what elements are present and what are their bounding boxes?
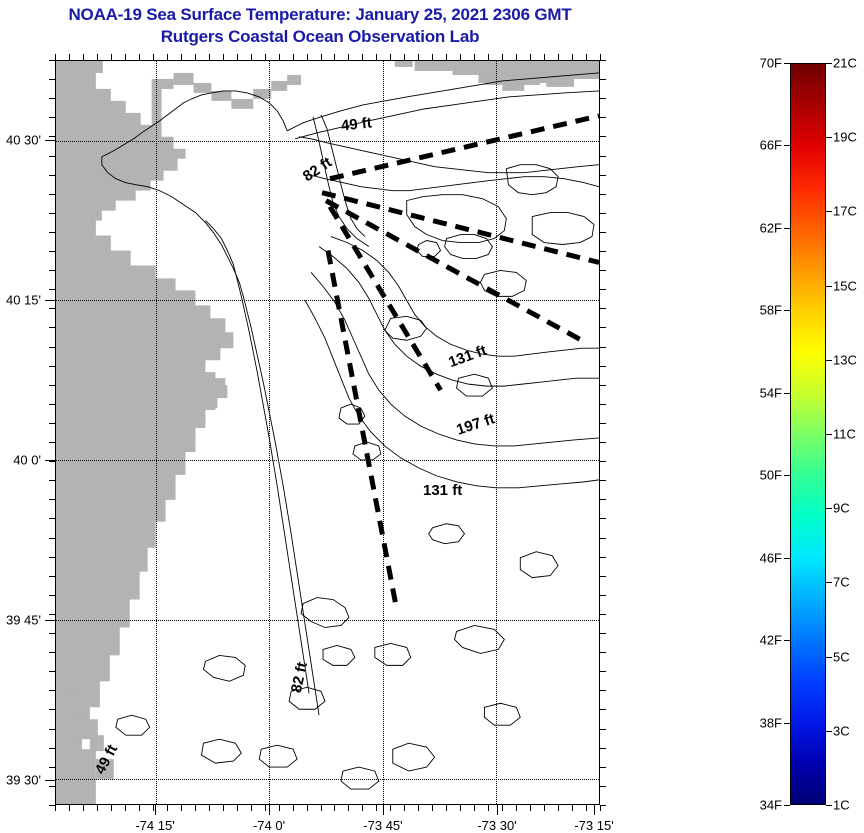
colorbar-tick-fahrenheit — [784, 310, 790, 311]
x-axis-tick-minor — [139, 54, 140, 60]
y-axis-tick-minor — [49, 690, 55, 691]
x-axis-tick-minor — [111, 54, 112, 60]
y-axis-tick-minor — [600, 786, 606, 787]
y-axis-tick-minor — [49, 805, 55, 806]
y-axis-tick-minor — [600, 614, 606, 615]
y-axis-tick-minor — [49, 442, 55, 443]
colorbar-label-celsius: 3C — [833, 723, 850, 738]
y-axis-label: 40 30' — [0, 133, 41, 148]
colorbar-tick-celsius — [826, 657, 832, 658]
colorbar-label-fahrenheit: 58F — [744, 303, 782, 318]
x-axis-tick-minor — [55, 54, 56, 60]
x-axis-label: -74 15' — [135, 818, 174, 833]
x-axis-tick-minor — [516, 805, 517, 811]
x-axis-tick-minor — [348, 54, 349, 60]
x-axis-tick-minor — [446, 54, 447, 60]
x-axis-tick-minor — [293, 54, 294, 60]
x-axis-label: -74 0' — [253, 818, 285, 833]
y-axis-tick-minor — [49, 633, 55, 634]
x-axis-tick-major — [594, 805, 595, 815]
y-axis-tick-minor — [49, 671, 55, 672]
y-axis-tick-minor — [600, 423, 606, 424]
colorbar-label-celsius: 21C — [833, 56, 857, 71]
colorbar-tick-celsius — [826, 508, 832, 509]
colorbar-label-celsius: 5C — [833, 649, 850, 664]
y-axis-tick-minor — [600, 671, 606, 672]
x-axis-tick-minor — [209, 805, 210, 811]
x-axis-tick-minor — [69, 805, 70, 811]
x-axis-tick-minor — [265, 54, 266, 60]
x-axis-tick-minor — [460, 805, 461, 811]
y-axis-tick-minor — [49, 194, 55, 195]
colorbar-tick-fahrenheit — [784, 63, 790, 64]
x-axis-tick-minor — [321, 54, 322, 60]
colorbar-tick-fahrenheit — [784, 640, 790, 641]
transect-line — [328, 250, 397, 609]
colorbar-label-celsius: 15C — [833, 278, 857, 293]
x-axis-tick-minor — [97, 54, 98, 60]
y-axis-tick-minor — [600, 595, 606, 596]
colorbar-label-celsius: 17C — [833, 204, 857, 219]
y-axis-tick-minor — [49, 60, 55, 61]
y-axis-tick-minor — [600, 518, 606, 519]
y-axis-tick-minor — [49, 709, 55, 710]
x-axis-tick-minor — [376, 805, 377, 811]
y-axis-tick-minor — [49, 175, 55, 176]
colorbar-label-fahrenheit: 34F — [744, 798, 782, 813]
colorbar-label-fahrenheit: 42F — [744, 633, 782, 648]
y-axis-tick-minor — [600, 136, 606, 137]
x-axis-tick-minor — [167, 805, 168, 811]
y-axis-tick-minor — [600, 442, 606, 443]
x-axis-tick-minor — [279, 54, 280, 60]
y-axis-tick-minor — [600, 251, 606, 252]
title-line-2: Rutgers Coastal Ocean Observation Lab — [0, 26, 640, 48]
y-axis-tick-minor — [49, 518, 55, 519]
y-axis-tick-minor — [600, 79, 606, 80]
x-axis-tick-minor — [418, 805, 419, 811]
x-axis-tick-minor — [293, 805, 294, 811]
x-axis-tick-minor — [251, 54, 252, 60]
title-line-1: NOAA-19 Sea Surface Temperature: January… — [0, 4, 640, 26]
colorbar[interactable] — [790, 63, 826, 805]
y-axis-tick-minor — [49, 767, 55, 768]
y-axis-tick-minor — [49, 557, 55, 558]
x-axis-tick-major — [383, 805, 384, 815]
sst-map-plot[interactable]: 49 ft 82 ft 131 ft 197 ft 131 ft 82 ft 4… — [55, 60, 600, 805]
x-axis-tick-minor — [530, 805, 531, 811]
y-axis-tick-minor — [600, 480, 606, 481]
y-axis-label: 39 30' — [0, 772, 41, 787]
y-axis-tick-minor — [49, 538, 55, 539]
x-axis-tick-minor — [139, 805, 140, 811]
x-axis-tick-minor — [530, 54, 531, 60]
y-axis-tick-minor — [600, 729, 606, 730]
y-axis-tick-minor — [600, 366, 606, 367]
x-axis-label: -73 15' — [574, 818, 613, 833]
colorbar-label-celsius: 13C — [833, 352, 857, 367]
y-axis-tick-minor — [49, 79, 55, 80]
x-axis-tick-minor — [195, 54, 196, 60]
x-axis-tick-minor — [544, 54, 545, 60]
y-axis-tick-minor — [49, 136, 55, 137]
x-axis-tick-minor — [69, 54, 70, 60]
y-axis-tick-minor — [49, 385, 55, 386]
y-axis-tick-minor — [600, 117, 606, 118]
x-axis-tick-minor — [488, 54, 489, 60]
x-axis-tick-minor — [237, 54, 238, 60]
x-axis-tick-minor — [334, 54, 335, 60]
y-axis-tick-minor — [49, 499, 55, 500]
colorbar-label-fahrenheit: 50F — [744, 468, 782, 483]
y-axis-tick-minor — [49, 213, 55, 214]
colorbar-tick-fahrenheit — [784, 475, 790, 476]
colorbar-tick-celsius — [826, 434, 832, 435]
transect-line — [322, 193, 599, 263]
y-axis-tick-major — [45, 620, 55, 621]
x-axis-tick-minor — [125, 54, 126, 60]
colorbar-tick-fahrenheit — [784, 723, 790, 724]
y-axis-tick-minor — [600, 98, 606, 99]
y-axis-tick-minor — [600, 347, 606, 348]
colorbar-label-celsius: 11C — [833, 427, 856, 442]
y-axis-tick-minor — [49, 652, 55, 653]
colorbar-label-celsius: 19C — [833, 130, 857, 145]
y-axis-tick-minor — [600, 805, 606, 806]
colorbar-label-fahrenheit: 66F — [744, 138, 782, 153]
x-axis-tick-minor — [502, 805, 503, 811]
x-axis-tick-major — [269, 805, 270, 815]
x-axis-tick-minor — [55, 805, 56, 811]
x-axis-tick-major — [155, 805, 156, 815]
colorbar-tick-celsius — [826, 731, 832, 732]
x-axis-tick-minor — [279, 805, 280, 811]
colorbar-label-celsius: 1C — [833, 798, 850, 813]
y-axis-tick-minor — [49, 98, 55, 99]
colorbar-tick-celsius — [826, 63, 832, 64]
colorbar-tick-fahrenheit — [784, 805, 790, 806]
y-axis-tick-minor — [600, 557, 606, 558]
x-axis-tick-minor — [97, 805, 98, 811]
y-axis-tick-minor — [600, 404, 606, 405]
x-axis-tick-minor — [544, 805, 545, 811]
x-axis-tick-minor — [307, 54, 308, 60]
y-axis-tick-minor — [600, 633, 606, 634]
x-axis-label: -73 45' — [363, 818, 402, 833]
colorbar-label-fahrenheit: 38F — [744, 715, 782, 730]
x-axis-tick-minor — [265, 805, 266, 811]
x-axis-tick-minor — [195, 805, 196, 811]
y-axis-tick-minor — [49, 289, 55, 290]
y-axis-tick-major — [45, 140, 55, 141]
colorbar-tick-celsius — [826, 211, 832, 212]
y-axis-tick-minor — [600, 461, 606, 462]
map-clip: 49 ft 82 ft 131 ft 197 ft 131 ft 82 ft 4… — [56, 61, 599, 804]
x-axis-tick-minor — [376, 54, 377, 60]
y-axis-tick-minor — [600, 308, 606, 309]
colorbar-label-fahrenheit: 46F — [744, 550, 782, 565]
x-axis-tick-minor — [586, 54, 587, 60]
y-axis-tick-minor — [49, 461, 55, 462]
colorbar-tick-fahrenheit — [784, 558, 790, 559]
y-axis-tick-minor — [49, 327, 55, 328]
x-axis-tick-minor — [223, 805, 224, 811]
colorbar-label-celsius: 9C — [833, 501, 850, 516]
y-axis-tick-minor — [49, 786, 55, 787]
x-axis-tick-minor — [167, 54, 168, 60]
y-axis-tick-minor — [600, 652, 606, 653]
x-axis-tick-minor — [432, 805, 433, 811]
y-axis-tick-minor — [49, 595, 55, 596]
x-axis-tick-minor — [209, 54, 210, 60]
colorbar-tick-celsius — [826, 137, 832, 138]
x-axis-tick-minor — [432, 54, 433, 60]
x-axis-tick-minor — [418, 54, 419, 60]
y-axis-tick-minor — [600, 232, 606, 233]
colorbar-tick-fahrenheit — [784, 145, 790, 146]
y-axis-tick-minor — [600, 194, 606, 195]
y-axis-tick-minor — [49, 117, 55, 118]
y-axis-tick-major — [45, 460, 55, 461]
y-axis-tick-minor — [600, 385, 606, 386]
x-axis-tick-minor — [558, 54, 559, 60]
x-axis-tick-minor — [572, 805, 573, 811]
y-axis-tick-minor — [600, 213, 606, 214]
x-axis-tick-minor — [558, 805, 559, 811]
y-axis-tick-minor — [49, 614, 55, 615]
y-axis-tick-minor — [49, 251, 55, 252]
x-axis-tick-minor — [390, 54, 391, 60]
x-axis-tick-minor — [181, 54, 182, 60]
y-axis-tick-major — [45, 300, 55, 301]
x-axis-tick-minor — [516, 54, 517, 60]
x-axis-tick-minor — [474, 805, 475, 811]
y-axis-tick-minor — [600, 576, 606, 577]
colorbar-label-fahrenheit: 54F — [744, 385, 782, 400]
y-axis-tick-minor — [600, 709, 606, 710]
y-axis-tick-minor — [49, 156, 55, 157]
y-axis-label: 40 15' — [0, 292, 41, 307]
colorbar-tick-celsius — [826, 360, 832, 361]
x-axis-tick-minor — [404, 54, 405, 60]
x-axis-tick-minor — [307, 805, 308, 811]
x-axis-tick-minor — [153, 54, 154, 60]
x-axis-tick-minor — [488, 805, 489, 811]
colorbar-tick-celsius — [826, 805, 832, 806]
x-axis-tick-minor — [502, 54, 503, 60]
y-axis-tick-minor — [49, 270, 55, 271]
colorbar-tick-fahrenheit — [784, 393, 790, 394]
x-axis-tick-minor — [390, 805, 391, 811]
y-axis-tick-minor — [600, 690, 606, 691]
x-axis-tick-minor — [586, 805, 587, 811]
colorbar-gradient — [790, 63, 826, 805]
x-axis-tick-minor — [83, 54, 84, 60]
x-axis-tick-major — [497, 805, 498, 815]
y-axis-tick-minor — [49, 347, 55, 348]
x-axis-tick-minor — [111, 805, 112, 811]
x-axis-label: -73 30' — [477, 818, 516, 833]
x-axis-tick-minor — [404, 805, 405, 811]
depth-label: 131 ft — [423, 482, 462, 499]
y-axis-label: 40 0' — [0, 452, 41, 467]
colorbar-label-fahrenheit: 62F — [744, 220, 782, 235]
x-axis-tick-minor — [83, 805, 84, 811]
y-axis-tick-minor — [600, 289, 606, 290]
y-axis-tick-minor — [49, 308, 55, 309]
y-axis-tick-minor — [49, 480, 55, 481]
colorbar-tick-fahrenheit — [784, 228, 790, 229]
y-axis-tick-minor — [600, 175, 606, 176]
x-axis-tick-minor — [153, 805, 154, 811]
y-axis-label: 39 45' — [0, 613, 41, 628]
y-axis-tick-minor — [49, 366, 55, 367]
x-axis-tick-minor — [251, 805, 252, 811]
y-axis-tick-minor — [49, 576, 55, 577]
x-axis-tick-minor — [362, 54, 363, 60]
x-axis-tick-minor — [446, 805, 447, 811]
colorbar-tick-celsius — [826, 582, 832, 583]
depth-label: 49 ft — [340, 114, 372, 134]
x-axis-tick-minor — [223, 54, 224, 60]
colorbar-label-celsius: 7C — [833, 575, 850, 590]
x-axis-tick-minor — [460, 54, 461, 60]
x-axis-tick-minor — [237, 805, 238, 811]
y-axis-tick-minor — [600, 538, 606, 539]
x-axis-tick-minor — [321, 805, 322, 811]
x-axis-tick-minor — [474, 54, 475, 60]
y-axis-tick-minor — [600, 748, 606, 749]
transect-line — [326, 201, 587, 344]
y-axis-tick-minor — [600, 499, 606, 500]
colorbar-label-fahrenheit: 70F — [744, 56, 782, 71]
x-axis-tick-minor — [572, 54, 573, 60]
x-axis-tick-minor — [181, 805, 182, 811]
y-axis-tick-minor — [49, 404, 55, 405]
x-axis-tick-minor — [348, 805, 349, 811]
y-axis-tick-minor — [49, 729, 55, 730]
y-axis-tick-minor — [49, 423, 55, 424]
y-axis-tick-minor — [600, 156, 606, 157]
y-axis-tick-minor — [600, 767, 606, 768]
y-axis-tick-minor — [49, 748, 55, 749]
colorbar-tick-celsius — [826, 286, 832, 287]
y-axis-tick-minor — [600, 327, 606, 328]
y-axis-tick-minor — [600, 270, 606, 271]
x-axis-tick-minor — [125, 805, 126, 811]
page-title: NOAA-19 Sea Surface Temperature: January… — [0, 4, 640, 48]
y-axis-tick-minor — [600, 60, 606, 61]
x-axis-tick-minor — [334, 805, 335, 811]
x-axis-tick-minor — [362, 805, 363, 811]
y-axis-tick-major — [45, 780, 55, 781]
transect-line — [330, 207, 441, 391]
y-axis-tick-minor — [49, 232, 55, 233]
